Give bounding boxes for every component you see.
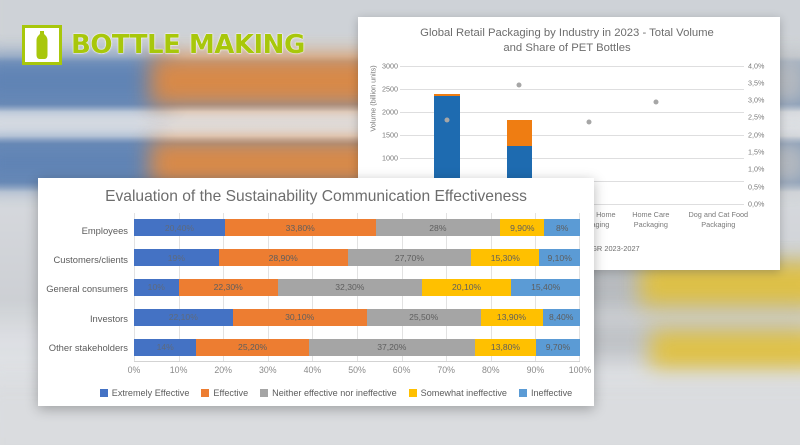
survey-xtick: 70%: [437, 365, 455, 375]
survey-bar-rows: 20,40% 33,80% 28% 9,90% 8% 19% 28,90% 27…: [134, 213, 580, 362]
cagr-ytick: 3,5%: [748, 79, 764, 88]
survey-xtick: 20%: [214, 365, 232, 375]
volume-xtick: Home Care Packaging: [618, 210, 684, 229]
bar-segment-extremely-effective: 19%: [134, 249, 219, 266]
volume-ytick: 2000: [382, 108, 398, 117]
survey-x-axis-labels: 0% 10% 20% 30% 40% 50% 60% 70% 80% 90% 1…: [134, 362, 580, 380]
legend-item-ineffective: Ineffective: [519, 388, 572, 398]
bar-segment-neither: 25,50%: [367, 309, 481, 326]
legend-label: Ineffective: [531, 388, 572, 398]
bar-segment-somewhat-ineffective: 15,30%: [471, 249, 539, 266]
survey-category-employees: Employees: [38, 225, 134, 236]
cagr-ytick: 0,5%: [748, 183, 764, 192]
legend-swatch-icon: [100, 389, 108, 397]
backdrop-band-yellow: [650, 330, 800, 370]
bar-segment-effective: 30,10%: [233, 309, 367, 326]
table-row: 22,10% 30,10% 25,50% 13,90% 8,40%: [134, 309, 580, 326]
volume-ytick: 1500: [382, 131, 398, 140]
bar-segment-somewhat-ineffective: 20,10%: [422, 279, 512, 296]
bar-segment-extremely-effective: 22,10%: [134, 309, 233, 326]
bar-segment-effective: 22,30%: [179, 279, 278, 296]
cagr-ytick: 2,0%: [748, 131, 764, 140]
volume-chart-title: Global Retail Packaging by Industry in 2…: [376, 26, 758, 56]
cagr-marker: [587, 120, 592, 125]
cagr-ytick: 2,5%: [748, 113, 764, 122]
bar-segment-neither: 37,20%: [309, 339, 475, 356]
survey-category-general-consumers: General consumers: [38, 283, 134, 294]
bar-segment-somewhat-ineffective: 9,90%: [500, 219, 544, 236]
legend-label: Effective: [213, 388, 248, 398]
brand-name: BOTTLE MAKING: [71, 30, 305, 60]
volume-chart-title-line2: and Share of PET Bottles: [503, 42, 630, 54]
bar-segment-somewhat-ineffective: 13,90%: [481, 309, 543, 326]
legend-item-extremely-effective: Extremely Effective: [100, 388, 190, 398]
cagr-marker: [445, 118, 450, 123]
volume-chart-title-line1: Global Retail Packaging by Industry in 2…: [420, 27, 714, 39]
bar-segment-neither: 32,30%: [278, 279, 422, 296]
survey-plot: 20,40% 33,80% 28% 9,90% 8% 19% 28,90% 27…: [134, 213, 580, 380]
bar-segment-somewhat-ineffective: 13,80%: [475, 339, 537, 356]
legend-swatch-icon: [409, 389, 417, 397]
legend-item-somewhat-ineffective: Somewhat ineffective: [409, 388, 507, 398]
volume-ytick: 2500: [382, 85, 398, 94]
survey-category-investors: Investors: [38, 313, 134, 324]
survey-xtick: 90%: [527, 365, 545, 375]
bar-segment-effective: 33,80%: [225, 219, 376, 236]
legend-item-neither: Neither effective nor ineffective: [260, 388, 397, 398]
survey-xtick: 50%: [348, 365, 366, 375]
bar-segment-neither: 27,70%: [348, 249, 472, 266]
brand-logo: BOTTLE MAKING: [22, 25, 305, 65]
table-row: 14% 25,20% 37,20% 13,80% 9,70%: [134, 339, 580, 356]
survey-chart-legend: Extremely Effective Effective Neither ef…: [38, 380, 594, 406]
legend-label: Somewhat ineffective: [421, 388, 507, 398]
legend-swatch-icon: [519, 389, 527, 397]
volume-xtick: Dog and Cat Food Packaging: [685, 210, 751, 229]
survey-xtick: 0%: [128, 365, 141, 375]
bar-segment-effective: 25,20%: [196, 339, 308, 356]
table-row: 19% 28,90% 27,70% 15,30% 9,10%: [134, 249, 580, 266]
survey-xtick: 100%: [569, 365, 592, 375]
bar-segment-effective: 28,90%: [219, 249, 348, 266]
survey-category-labels: Employees Customers/clients General cons…: [38, 213, 134, 380]
bottle-icon: [22, 25, 62, 65]
volume-ytick: 3000: [382, 62, 398, 71]
cagr-marker: [517, 83, 522, 88]
survey-xtick: 80%: [482, 365, 500, 375]
legend-swatch-icon: [201, 389, 209, 397]
volume-bar-segment-pet: [507, 120, 533, 146]
survey-category-other: Other stakeholders: [38, 342, 134, 353]
cagr-ytick: 4,0%: [748, 62, 764, 71]
cagr-marker: [654, 100, 659, 105]
survey-xtick: 40%: [304, 365, 322, 375]
volume-secondary-axis-ticks: 4,0% 3,5% 3,0% 2,5% 2,0% 1,5% 1,0% 0,5% …: [744, 60, 770, 208]
table-row: 20,40% 33,80% 28% 9,90% 8%: [134, 219, 580, 236]
cagr-ytick: 3,0%: [748, 96, 764, 105]
cagr-ytick: 1,5%: [748, 148, 764, 157]
legend-label: Neither effective nor ineffective: [272, 388, 397, 398]
volume-ytick: 1000: [382, 154, 398, 163]
bar-segment-neither: 28%: [376, 219, 501, 236]
survey-chart-title: Evaluation of the Sustainability Communi…: [38, 188, 594, 206]
bar-segment-ineffective: 8,40%: [543, 309, 580, 326]
legend-swatch-icon: [260, 389, 268, 397]
bar-segment-extremely-effective: 10%: [134, 279, 179, 296]
bar-segment-extremely-effective: 14%: [134, 339, 196, 356]
survey-plot-area: Employees Customers/clients General cons…: [38, 213, 580, 380]
bar-segment-ineffective: 8%: [544, 219, 580, 236]
legend-label: Extremely Effective: [112, 388, 190, 398]
bar-segment-ineffective: 9,10%: [539, 249, 580, 266]
bar-segment-extremely-effective: 20,40%: [134, 219, 225, 236]
survey-xtick: 60%: [393, 365, 411, 375]
survey-xtick: 10%: [170, 365, 188, 375]
bar-segment-ineffective: 9,70%: [536, 339, 579, 356]
table-row: 10% 22,30% 32,30% 20,10% 15,40%: [134, 279, 580, 296]
bar-segment-ineffective: 15,40%: [511, 279, 580, 296]
survey-category-customers: Customers/clients: [38, 254, 134, 265]
cagr-ytick: 1,0%: [748, 165, 764, 174]
legend-item-effective: Effective: [201, 388, 248, 398]
screenshot-root: BOTTLE MAKING Global Retail Packaging by…: [0, 0, 800, 445]
survey-xtick: 30%: [259, 365, 277, 375]
survey-chart-card: Evaluation of the Sustainability Communi…: [38, 178, 594, 406]
cagr-ytick: 0,0%: [748, 200, 764, 209]
